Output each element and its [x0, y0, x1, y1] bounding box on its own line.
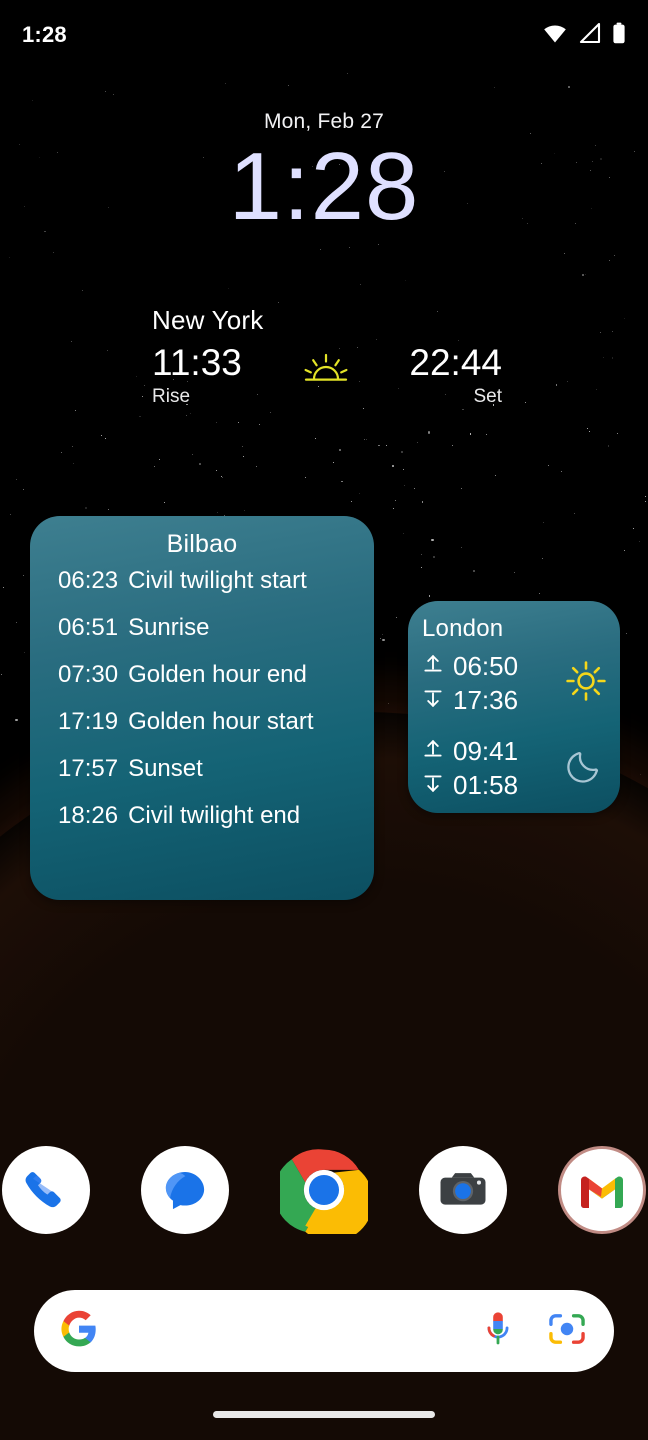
google-g-icon: [60, 1310, 98, 1353]
sunrise-set-label: Set: [409, 386, 502, 408]
google-search-bar[interactable]: [34, 1290, 614, 1372]
bilbao-event-time: 06:51: [58, 616, 118, 640]
london-sun-rise-row: 06:50: [422, 649, 518, 683]
bilbao-event-time: 07:30: [58, 663, 118, 687]
dock-app-chrome[interactable]: [278, 1142, 369, 1238]
clock-widget[interactable]: Mon, Feb 27 1:28: [0, 110, 648, 236]
sun-phases-widget-bilbao[interactable]: Bilbao 06:23 Civil twilight start 06:51 …: [30, 516, 374, 900]
sun-moon-widget-london[interactable]: London 06: [408, 601, 620, 813]
wifi-icon: [542, 23, 568, 48]
status-bar: 1:28: [0, 0, 648, 70]
battery-icon: [612, 22, 626, 49]
bilbao-widget-city: Bilbao: [30, 516, 374, 559]
app-dock: [0, 1142, 648, 1238]
status-bar-clock: 1:28: [22, 22, 67, 48]
dock-app-phone[interactable]: [0, 1142, 91, 1238]
search-input[interactable]: [98, 1290, 482, 1372]
sunrise-widget-row: 11:33 Rise 22:44: [152, 344, 502, 408]
sunrise-widget-city: New York: [152, 305, 502, 336]
bilbao-event-time: 17:57: [58, 757, 118, 781]
bilbao-event-time: 06:23: [58, 569, 118, 593]
phone-icon: [2, 1146, 90, 1234]
london-moon-rise-row: 09:41: [422, 734, 518, 768]
london-phase-icons: [564, 649, 608, 789]
bilbao-event-label: Civil twilight end: [128, 804, 300, 828]
clock-date: Mon, Feb 27: [0, 110, 648, 134]
list-item: 07:30 Golden hour end: [58, 663, 374, 687]
moon-icon: [566, 744, 606, 789]
sunrise-sunset-widget-new-york[interactable]: New York 11:33 Rise: [152, 305, 502, 408]
list-item: 17:19 Golden hour start: [58, 710, 374, 734]
sunrise-rise-label: Rise: [152, 386, 242, 408]
status-bar-icons: [542, 22, 626, 49]
bilbao-event-label: Sunset: [128, 757, 203, 781]
london-sun-group: 06:50 17:36: [422, 649, 518, 718]
sunrise-icon: [300, 349, 352, 408]
bilbao-event-label: Sunrise: [128, 616, 209, 640]
cell-signal-icon: [579, 23, 601, 48]
london-sunset-time: 17:36: [453, 683, 518, 717]
bilbao-event-label: Civil twilight start: [128, 569, 307, 593]
london-widget-city: London: [408, 601, 620, 643]
home-gesture-bar[interactable]: [213, 1411, 435, 1418]
camera-icon: [419, 1146, 507, 1234]
bilbao-event-list: 06:23 Civil twilight start 06:51 Sunrise…: [30, 559, 374, 828]
london-sun-set-row: 17:36: [422, 683, 518, 717]
dock-app-camera[interactable]: [418, 1142, 509, 1238]
microphone-icon[interactable]: [482, 1310, 514, 1353]
search-actions: [482, 1310, 586, 1353]
bilbao-event-time: 17:19: [58, 710, 118, 734]
london-times: 06:50 17:36: [422, 649, 518, 802]
sunrise-rise-time: 11:33: [152, 344, 242, 383]
set-arrow-icon: [422, 768, 444, 802]
gmail-icon: [558, 1146, 646, 1234]
sunrise-set-column: 22:44 Set: [409, 344, 502, 408]
google-lens-icon[interactable]: [548, 1312, 586, 1351]
clock-time: 1:28: [0, 138, 648, 236]
sunrise-rise-column: 11:33 Rise: [152, 344, 242, 408]
london-moonset-time: 01:58: [453, 768, 518, 802]
list-item: 06:23 Civil twilight start: [58, 569, 374, 593]
chrome-icon: [280, 1146, 368, 1234]
sunrise-set-time: 22:44: [409, 344, 502, 383]
london-moonrise-time: 09:41: [453, 734, 518, 768]
bilbao-event-label: Golden hour start: [128, 710, 313, 734]
dock-app-gmail[interactable]: [557, 1142, 648, 1238]
messages-icon: [141, 1146, 229, 1234]
bilbao-event-label: Golden hour end: [128, 663, 307, 687]
sun-icon: [564, 659, 608, 708]
bilbao-event-time: 18:26: [58, 804, 118, 828]
dock-app-messages[interactable]: [139, 1142, 230, 1238]
home-screen: 1:28 Mon, Feb 27 1:28: [0, 0, 648, 1440]
list-item: 18:26 Civil twilight end: [58, 804, 374, 828]
london-moon-set-row: 01:58: [422, 768, 518, 802]
london-widget-body: 06:50 17:36: [408, 643, 620, 802]
set-arrow-icon: [422, 683, 444, 717]
rise-arrow-icon: [422, 649, 444, 683]
london-sunrise-time: 06:50: [453, 649, 518, 683]
list-item: 17:57 Sunset: [58, 757, 374, 781]
rise-arrow-icon: [422, 734, 444, 768]
list-item: 06:51 Sunrise: [58, 616, 374, 640]
london-moon-group: 09:41 01:58: [422, 734, 518, 803]
